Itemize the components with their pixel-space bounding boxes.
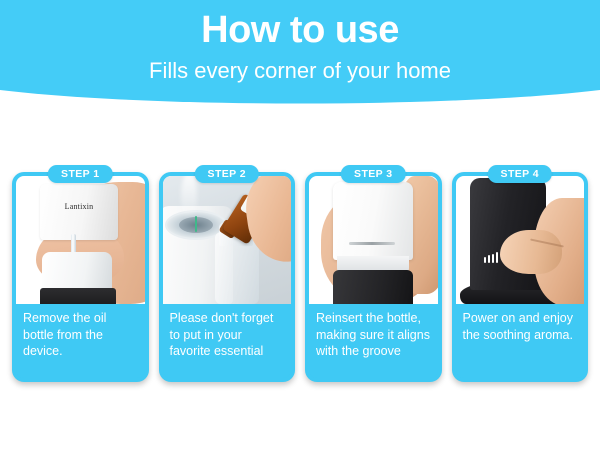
mist-plume [181, 176, 197, 218]
step-card-1[interactable]: STEP 1 Lantixin Remove the oil bottle fr… [12, 172, 149, 382]
step-badge-2: STEP 2 [195, 165, 259, 183]
device-base [40, 288, 116, 304]
brand-label: Lantixin [40, 202, 118, 211]
step-caption-4: Power on and enjoy the soothing aroma. [456, 304, 585, 378]
step-photo-1: Lantixin [16, 176, 145, 304]
step-card-2[interactable]: STEP 2 Please don't forg [159, 172, 296, 382]
step-caption-3: Reinsert the bottle, making sure it alig… [309, 304, 438, 378]
steps-row: STEP 1 Lantixin Remove the oil bottle fr… [12, 172, 588, 382]
step-card-4[interactable]: STEP 4 Power on and enjoy the soothing a… [452, 172, 589, 382]
step-photo-3 [309, 176, 438, 304]
step-caption-2: Please don't forget to put in your favor… [163, 304, 292, 378]
device-base [333, 270, 413, 304]
how-to-use-infographic: How to use Fills every corner of your ho… [0, 0, 600, 450]
wick [195, 216, 197, 232]
step-photo-2 [163, 176, 292, 304]
header-banner: How to use Fills every corner of your ho… [0, 0, 600, 108]
page-title: How to use [201, 6, 399, 54]
thumb-on-power-button [500, 230, 562, 274]
page-subtitle: Fills every corner of your home [149, 56, 451, 86]
oil-bottle [333, 182, 413, 260]
step-caption-1: Remove the oil bottle from the device. [16, 304, 145, 378]
oil-bottle-top [40, 184, 118, 240]
step-photo-4 [456, 176, 585, 304]
step-badge-3: STEP 3 [341, 165, 405, 183]
step-card-3[interactable]: STEP 3 Reinsert the bottle, making sure … [305, 172, 442, 382]
step-badge-1: STEP 1 [48, 165, 112, 183]
step-badge-4: STEP 4 [488, 165, 552, 183]
alignment-groove [349, 242, 395, 245]
power-indicator-leds [484, 252, 500, 263]
